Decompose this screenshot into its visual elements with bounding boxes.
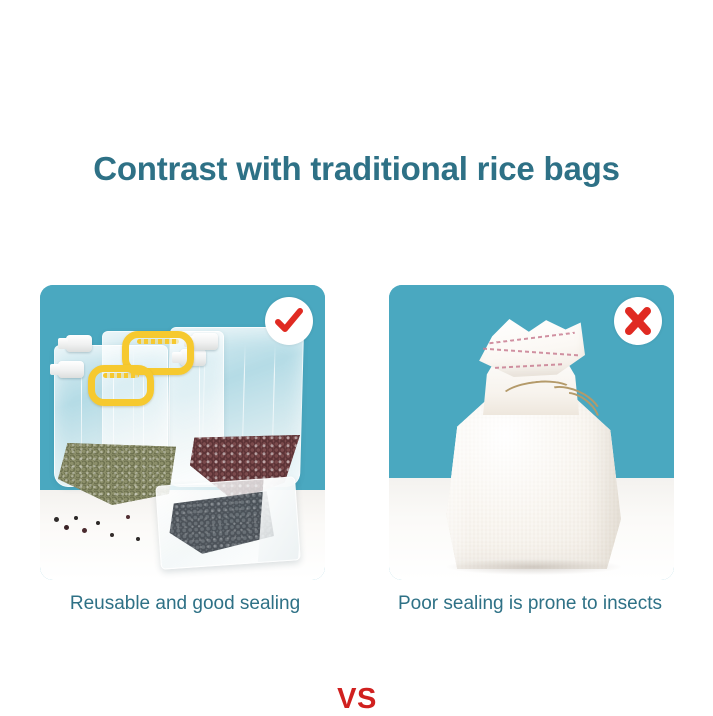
versus-label: VS: [325, 683, 389, 716]
caption-traditional-sack: Poor sealing is prone to insects: [370, 593, 690, 615]
check-badge: [265, 297, 313, 345]
cross-icon: [622, 305, 654, 337]
scattered-bean: [96, 521, 100, 525]
scattered-bean: [54, 517, 59, 522]
comparison-row: VS: [0, 285, 713, 580]
bag-spout-cap: [66, 335, 92, 352]
cross-badge: [614, 297, 662, 345]
page-title: Contrast with traditional rice bags: [0, 150, 713, 188]
product-comparison-infographic: Contrast with traditional rice bags: [0, 0, 713, 713]
bag-spout-cap: [58, 361, 84, 378]
scattered-bean: [74, 516, 78, 520]
scattered-bean: [64, 525, 69, 530]
comparison-panel-traditional-sack: [389, 285, 674, 580]
scattered-bean: [110, 533, 114, 537]
comparison-panel-reusable-bags: [40, 285, 325, 580]
scattered-bean: [136, 537, 140, 541]
check-icon: [272, 304, 306, 338]
bag-carry-handle: [88, 365, 154, 406]
open-bag-with-black-beans: [155, 476, 301, 570]
sack-shadow: [447, 559, 621, 575]
traditional-rice-sack: [437, 319, 627, 569]
bag-flap: [258, 476, 301, 564]
caption-reusable-bags: Reusable and good sealing: [40, 593, 330, 615]
bag-spout-cap: [192, 333, 218, 350]
scattered-bean: [82, 528, 87, 533]
scattered-bean: [126, 515, 130, 519]
